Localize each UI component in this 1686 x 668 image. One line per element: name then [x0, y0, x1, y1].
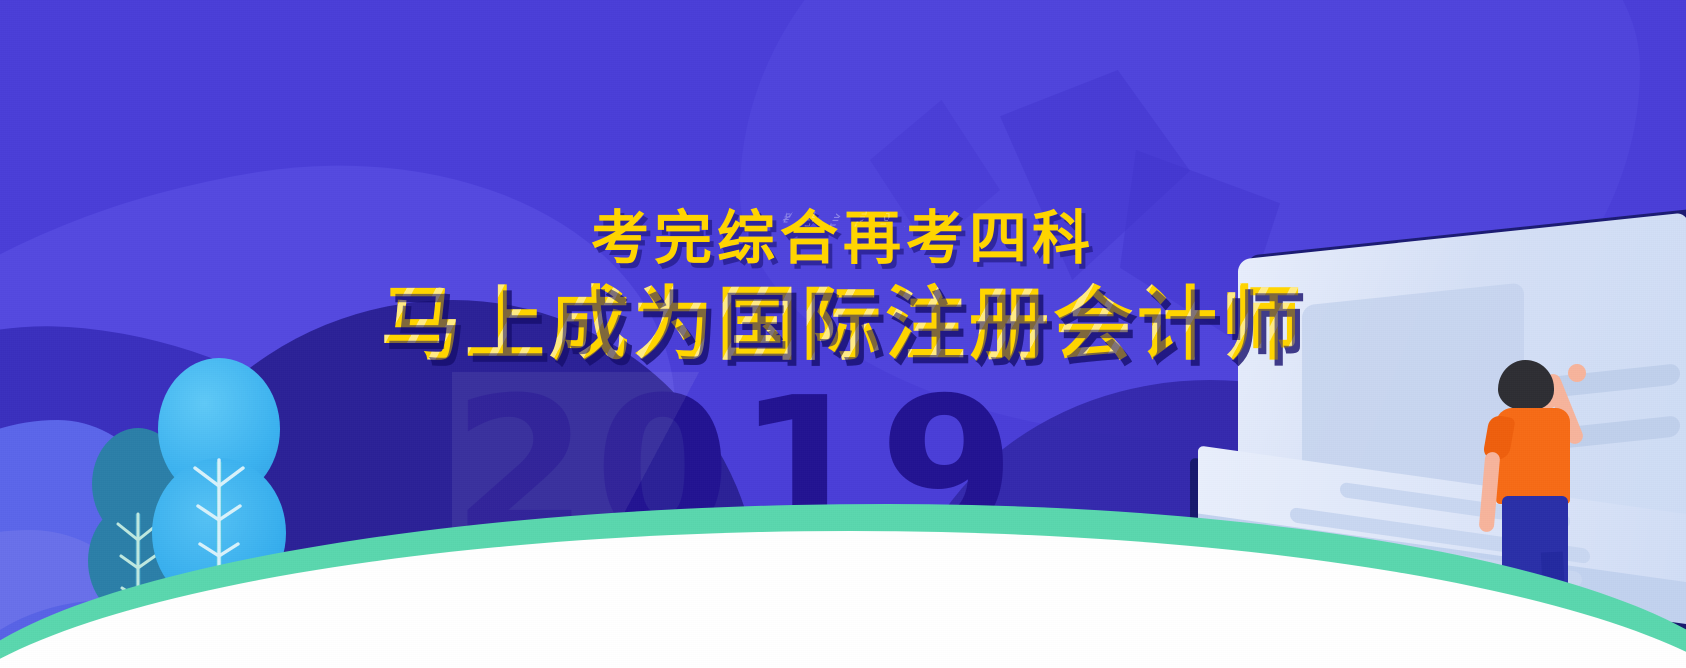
headline-line2-shine: 马上成为国际注册会计师 — [381, 281, 1305, 369]
headline-line1-wrapper: 考完综合再考四科 考完综合再考四科 — [591, 206, 1095, 271]
headline-line2: 马上成为国际注册会计师马上成为国际注册会计师 — [381, 281, 1305, 369]
banner-headline: 考完综合再考四科 考完综合再考四科 马上成为国际注册会计师马上成为国际注册会计师 — [0, 206, 1686, 369]
headline-line1: 考完综合再考四科 — [591, 206, 1095, 271]
promo-banner: 2019 — [0, 0, 1686, 668]
